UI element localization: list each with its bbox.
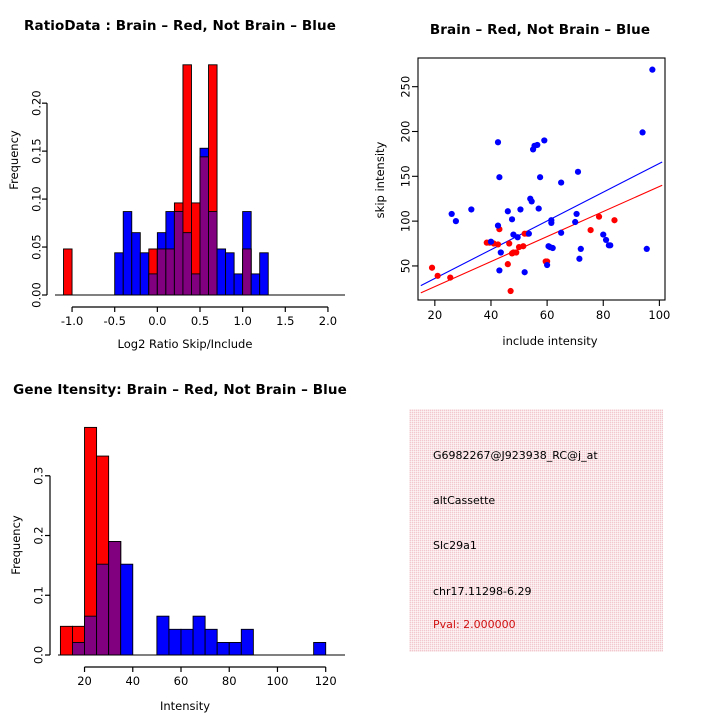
scatter-point	[488, 239, 494, 245]
gene-bar-blue	[314, 642, 326, 655]
figure-canvas: RatioData : Brain – Red, Not Brain – Blu…	[0, 0, 720, 720]
scatter-point	[453, 218, 459, 224]
panel-intensity-scatter: Brain – Red, Not Brain – Blue 5010015020…	[360, 0, 720, 360]
scatter-x-axis: 20406080100	[428, 300, 671, 322]
gene-bar-blue	[193, 616, 205, 655]
scatter-x-ticklabel: 80	[596, 308, 611, 322]
ratio-bar-overlap	[191, 274, 200, 295]
gene-x-ticklabel: 120	[315, 674, 337, 688]
gene-bar-red	[60, 626, 72, 655]
info-locus: chr17.11298-6.29	[433, 585, 532, 598]
ratio-y-ticklabel: 0.10	[30, 186, 44, 212]
gene-y-ticklabel: 0.0	[32, 646, 46, 664]
scatter-point	[541, 137, 547, 143]
ratio-bar-overlap	[209, 212, 218, 295]
panel-info: G6982267@J923938_RC@j_at altCassette Slc…	[360, 360, 720, 720]
gene-histogram-title: Gene Itensity: Brain – Red, Not Brain – …	[0, 382, 360, 398]
ratio-x-ticklabel: 1.0	[233, 314, 251, 328]
scatter-point	[588, 227, 594, 233]
scatter-point	[506, 240, 512, 246]
gene-x-ticklabel: 20	[77, 674, 92, 688]
ratio-histogram-bars	[64, 65, 269, 295]
scatter-point	[558, 230, 564, 236]
scatter-point	[600, 231, 606, 237]
ratio-y-ticklabel: 0.20	[30, 90, 44, 116]
gene-bar-blue	[217, 642, 229, 655]
ratio-bar-blue	[226, 253, 235, 295]
info-pval: Pval: 2.000000	[433, 618, 516, 631]
gene-y-ticklabel: 0.2	[32, 526, 46, 544]
gene-histogram-y-label: Frequency	[9, 515, 23, 575]
scatter-point	[534, 142, 540, 148]
ratio-x-ticklabel: 2.0	[319, 314, 337, 328]
scatter-points	[429, 67, 656, 295]
ratio-bar-overlap	[166, 249, 175, 295]
scatter-point	[544, 262, 550, 268]
scatter-x-ticklabel: 40	[484, 308, 499, 322]
ratio-x-ticklabel: 0.0	[148, 314, 166, 328]
ratio-bar-blue	[260, 253, 269, 295]
ratio-y-ticklabel: 0.15	[30, 138, 44, 164]
scatter-point	[496, 267, 502, 273]
scatter-x-ticklabel: 100	[648, 308, 670, 322]
scatter-point	[449, 211, 455, 217]
scatter-point	[495, 223, 501, 229]
scatter-y-ticklabel: 250	[399, 76, 413, 98]
gene-bar-blue	[169, 629, 181, 655]
scatter-y-ticklabel: 100	[399, 210, 413, 232]
gene-x-ticklabel: 40	[125, 674, 140, 688]
scatter-svg: 50100150200250 20406080100 skip intensit…	[360, 0, 720, 360]
ratio-bar-red	[64, 249, 73, 295]
scatter-x-ticklabel: 20	[428, 308, 443, 322]
gene-x-ticklabel: 60	[174, 674, 189, 688]
scatter-point	[649, 67, 655, 73]
ratio-bar-blue	[251, 274, 260, 295]
gene-bar-blue	[121, 564, 133, 655]
info-probe-id: G6982267@J923938_RC@j_at	[433, 449, 598, 462]
scatter-x-ticklabel: 60	[540, 308, 555, 322]
ratio-bar-overlap	[157, 249, 166, 295]
scatter-point	[550, 245, 556, 251]
ratio-x-ticklabel: 0.5	[191, 314, 209, 328]
gene-bar-blue	[205, 629, 217, 655]
ratio-bar-overlap	[243, 249, 252, 295]
gene-histogram-x-label: Intensity	[160, 699, 210, 713]
gene-histogram-x-axis: 20406080100120	[58, 655, 345, 688]
gene-y-ticklabel: 0.3	[32, 467, 46, 485]
panel-ratio-histogram: RatioData : Brain – Red, Not Brain – Blu…	[0, 0, 360, 360]
scatter-point	[573, 211, 579, 217]
scatter-point	[607, 242, 613, 248]
ratio-bar-blue	[234, 274, 243, 295]
info-gene-symbol: Slc29a1	[433, 539, 477, 552]
scatter-title: Brain – Red, Not Brain – Blue	[360, 22, 720, 38]
info-box: G6982267@J923938_RC@j_at altCassette Slc…	[409, 409, 663, 652]
ratio-x-ticklabel: -1.0	[61, 314, 83, 328]
ratio-x-ticklabel: -0.5	[103, 314, 125, 328]
gene-x-ticklabel: 80	[222, 674, 237, 688]
ratio-bar-blue	[115, 253, 124, 295]
info-event-type: altCassette	[433, 494, 495, 507]
scatter-point	[496, 174, 502, 180]
ratio-histogram-y-axis: 0.000.050.100.150.20	[30, 90, 48, 307]
ratio-histogram-x-label: Log2 Ratio Skip/Include	[118, 337, 253, 351]
scatter-y-ticklabel: 50	[399, 259, 413, 274]
ratio-x-ticklabel: 1.5	[276, 314, 294, 328]
ratio-histogram-y-label: Frequency	[7, 130, 21, 190]
scatter-point	[508, 288, 514, 294]
scatter-point	[603, 237, 609, 243]
gene-bar-blue	[181, 629, 193, 655]
scatter-point	[505, 261, 511, 267]
scatter-y-axis: 50100150200250	[399, 76, 419, 274]
scatter-point	[498, 249, 504, 255]
scatter-point	[513, 249, 519, 255]
scatter-point	[526, 231, 532, 237]
scatter-point	[505, 208, 511, 214]
scatter-point	[495, 241, 501, 247]
gene-histogram-y-axis: 0.00.10.20.3	[32, 467, 51, 665]
ratio-y-ticklabel: 0.05	[30, 234, 44, 260]
gene-histogram-svg: 0.00.10.20.3 20406080100120 Frequency In…	[0, 360, 360, 720]
ratio-bar-overlap	[149, 274, 158, 295]
ratio-bar-blue	[123, 212, 132, 295]
scatter-point	[572, 219, 578, 225]
scatter-point	[578, 246, 584, 252]
gene-bar-blue	[241, 629, 253, 655]
scatter-x-label: include intensity	[502, 334, 597, 348]
ratio-y-ticklabel: 0.00	[30, 282, 44, 308]
gene-bar-overlap	[97, 564, 109, 655]
scatter-point	[435, 273, 441, 279]
ratio-histogram-title: RatioData : Brain – Red, Not Brain – Blu…	[0, 18, 360, 34]
scatter-fit-line	[421, 185, 662, 293]
scatter-point	[447, 274, 453, 280]
gene-bar-blue	[229, 642, 241, 655]
scatter-point	[522, 269, 528, 275]
scatter-point	[611, 217, 617, 223]
scatter-point	[536, 205, 542, 211]
scatter-point	[517, 206, 523, 212]
scatter-point	[639, 129, 645, 135]
ratio-bar-overlap	[174, 212, 183, 295]
gene-x-ticklabel: 100	[266, 674, 288, 688]
gene-histogram-bars	[60, 427, 325, 655]
panel-gene-histogram: Gene Itensity: Brain – Red, Not Brain – …	[0, 360, 360, 720]
ratio-histogram-svg: 0.000.050.100.150.20 -1.0-0.50.00.51.01.…	[0, 0, 360, 360]
scatter-fit-lines	[421, 162, 662, 293]
scatter-point	[558, 179, 564, 185]
scatter-point	[537, 174, 543, 180]
scatter-point	[575, 169, 581, 175]
gene-y-ticklabel: 0.1	[32, 586, 46, 604]
scatter-point	[520, 243, 526, 249]
gene-bar-overlap	[72, 642, 84, 655]
ratio-bar-blue	[132, 233, 141, 295]
scatter-point	[495, 139, 501, 145]
ratio-bar-overlap	[183, 233, 192, 295]
scatter-point	[596, 214, 602, 220]
scatter-point	[548, 217, 554, 223]
scatter-point	[429, 265, 435, 271]
scatter-y-label: skip intensity	[373, 141, 387, 218]
scatter-y-ticklabel: 200	[399, 121, 413, 143]
scatter-point	[529, 198, 535, 204]
ratio-histogram-x-axis: -1.0-0.50.00.51.01.52.0	[55, 295, 345, 328]
gene-bar-overlap	[109, 541, 121, 655]
scatter-point	[509, 216, 515, 222]
gene-bar-overlap	[85, 616, 97, 655]
ratio-bar-blue	[140, 253, 149, 295]
gene-bar-blue	[157, 616, 169, 655]
scatter-point	[468, 206, 474, 212]
scatter-y-ticklabel: 150	[399, 165, 413, 187]
scatter-point	[515, 234, 521, 240]
ratio-bar-blue	[217, 249, 226, 295]
scatter-point	[576, 256, 582, 262]
scatter-point	[644, 246, 650, 252]
ratio-bar-overlap	[200, 157, 209, 295]
